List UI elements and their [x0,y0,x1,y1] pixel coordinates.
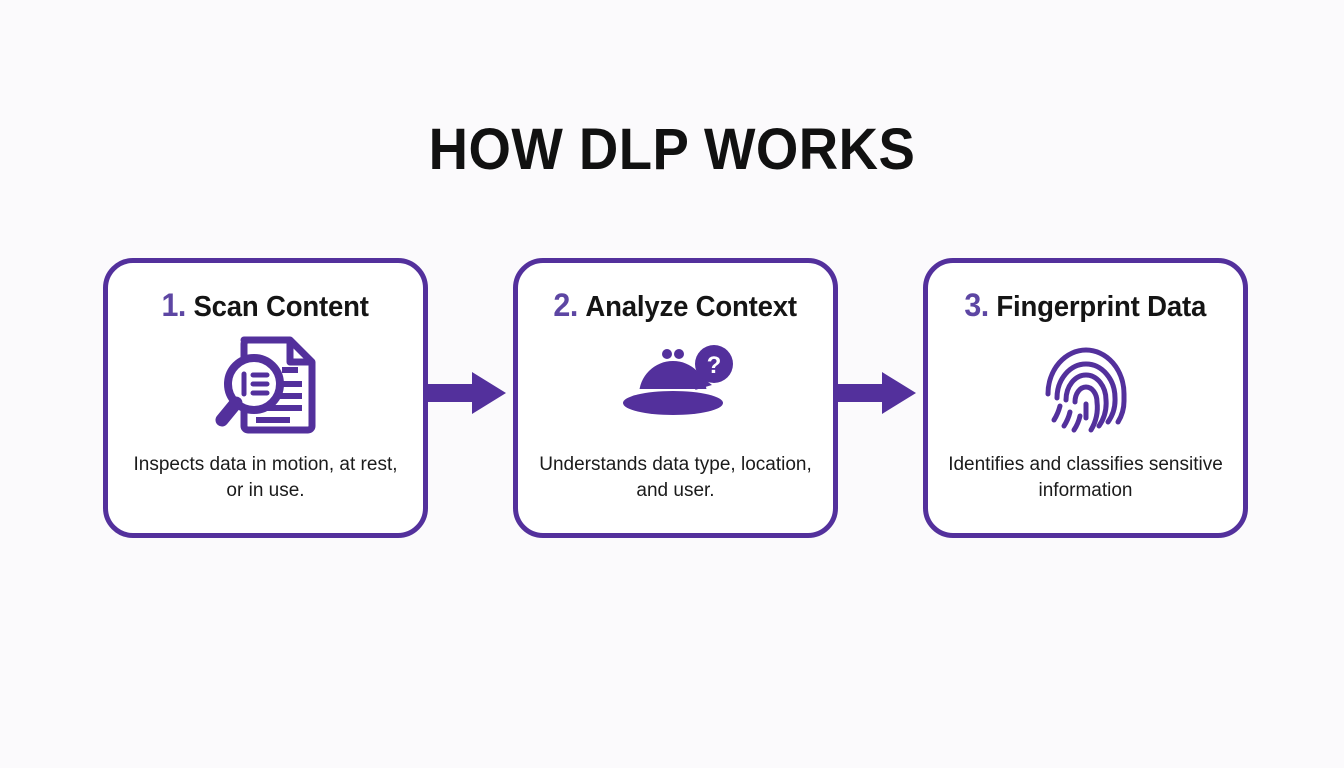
document-magnifier-icon [210,334,322,434]
steps-row: 1. Scan Content [103,258,1248,538]
step-2-heading: 2. Analyze Context [554,287,797,324]
svg-text:?: ? [706,352,721,379]
detective-hat-question-icon: ? [617,334,735,434]
step-2-title: Analyze Context [586,291,797,324]
step-2-number: 2. [554,287,578,324]
step-2-description: Understands data type, location, and use… [536,452,816,503]
fingerprint-icon [1040,334,1132,434]
step-3-title: Fingerprint Data [997,291,1207,324]
step-card-3[interactable]: 3. Fingerprint Data [923,258,1248,538]
arrow-right-icon-1 [428,372,506,414]
step-3-description: Identifies and classifies sensitive info… [946,452,1226,503]
step-card-2[interactable]: 2. Analyze Context ? [513,258,838,538]
step-1-number: 1. [162,287,186,324]
step-1-title: Scan Content [194,291,369,324]
step-1-heading: 1. Scan Content [162,287,369,324]
slide-canvas: HOW DLP WORKS 1. Scan Content [0,0,1344,768]
step-card-1[interactable]: 1. Scan Content [103,258,428,538]
step-1-description: Inspects data in motion, at rest, or in … [126,452,406,503]
step-3-heading: 3. Fingerprint Data [965,287,1207,324]
arrow-right-icon-2 [838,372,916,414]
step-3-number: 3. [965,287,989,324]
page-title: HOW DLP WORKS [40,118,1303,182]
